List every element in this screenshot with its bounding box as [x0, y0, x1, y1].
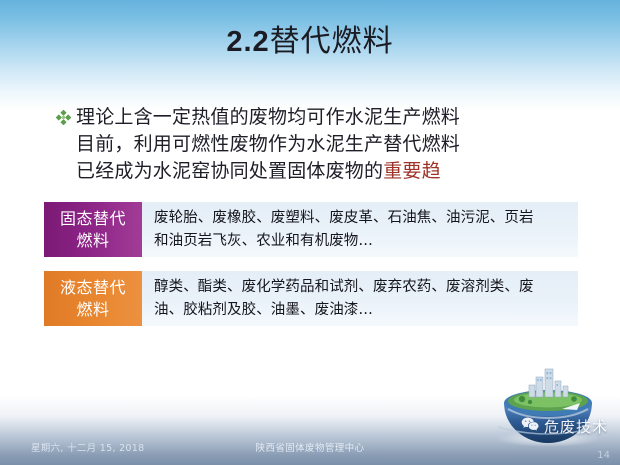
title-heading-text: 替代燃料	[270, 24, 394, 59]
page-number: 14	[597, 450, 610, 461]
category-row-liquid: 液态替代 燃料 醇类、酯类、废化学药品和试剂、废弃农药、废溶剂类、废 油、胶粘剂…	[44, 271, 578, 326]
watermark-text: 危废技术	[544, 416, 608, 437]
category-row-solid: 固态替代 燃料 废轮胎、废橡胶、废塑料、废皮革、石油焦、油污泥、页岩 和油页岩飞…	[44, 202, 578, 257]
category-label-solid-line1: 固态替代	[60, 208, 126, 230]
bullet-block: 理论上含一定热值的废物均可作水泥生产燃料 目前，利用可燃性废物作为水泥生产替代燃…	[56, 104, 566, 185]
watermark: 危废技术	[521, 416, 608, 437]
category-body-liquid-text: 醇类、酯类、废化学药品和试剂、废弃农药、废溶剂类、废 油、胶粘剂及胶、油墨、废油…	[154, 276, 534, 322]
category-label-liquid-line1: 液态替代	[60, 277, 126, 299]
page-title: 2.2替代燃料	[0, 22, 620, 62]
bullet-line-3-text: 已经成为水泥窑协同处置固体废物的	[76, 160, 383, 182]
bullet-line-1: 理论上含一定热值的废物均可作水泥生产燃料	[76, 104, 566, 131]
category-liquid-line-1: 醇类、酯类、废化学药品和试剂、废弃农药、废溶剂类、废	[154, 276, 534, 299]
category-body-solid-text: 废轮胎、废橡胶、废塑料、废皮革、石油焦、油污泥、页岩 和油页岩飞灰、农业和有机废…	[154, 207, 534, 253]
category-body-liquid: 醇类、酯类、废化学药品和试剂、废弃农药、废溶剂类、废 油、胶粘剂及胶、油墨、废油…	[142, 271, 578, 326]
bullet-row: 理论上含一定热值的废物均可作水泥生产燃料 目前，利用可燃性废物作为水泥生产替代燃…	[56, 104, 566, 185]
category-body-solid: 废轮胎、废橡胶、废塑料、废皮革、石油焦、油污泥、页岩 和油页岩飞灰、农业和有机废…	[142, 202, 578, 257]
category-label-solid-line2: 燃料	[76, 230, 109, 252]
green-diamond-bullet-icon	[56, 104, 76, 125]
wechat-icon	[521, 417, 539, 436]
bullet-highlight-text: 重要趋	[383, 160, 441, 182]
category-solid-line-1: 废轮胎、废橡胶、废塑料、废皮革、石油焦、油污泥、页岩	[154, 207, 534, 230]
category-liquid-line-2: 油、胶粘剂及胶、油墨、废油漆…	[154, 299, 534, 322]
category-label-solid: 固态替代 燃料	[44, 202, 142, 257]
bullet-paragraph: 理论上含一定热值的废物均可作水泥生产燃料 目前，利用可燃性废物作为水泥生产替代燃…	[76, 104, 566, 185]
footer-organization: 陕西省固体废物管理中心	[0, 440, 620, 454]
bullet-line-3: 已经成为水泥窑协同处置固体废物的重要趋	[76, 158, 566, 185]
category-label-liquid: 液态替代 燃料	[44, 271, 142, 326]
category-solid-line-2: 和油页岩飞灰、农业和有机废物…	[154, 230, 534, 253]
bullet-line-2: 目前，利用可燃性废物作为水泥生产替代燃料	[76, 131, 566, 158]
slide-canvas: 2.2替代燃料 理论上含一定热值的废物均可作水泥生产燃料 目前，利用可燃性废物作…	[0, 0, 620, 465]
title-section-number: 2.2	[226, 26, 269, 58]
category-label-liquid-line2: 燃料	[76, 299, 109, 321]
